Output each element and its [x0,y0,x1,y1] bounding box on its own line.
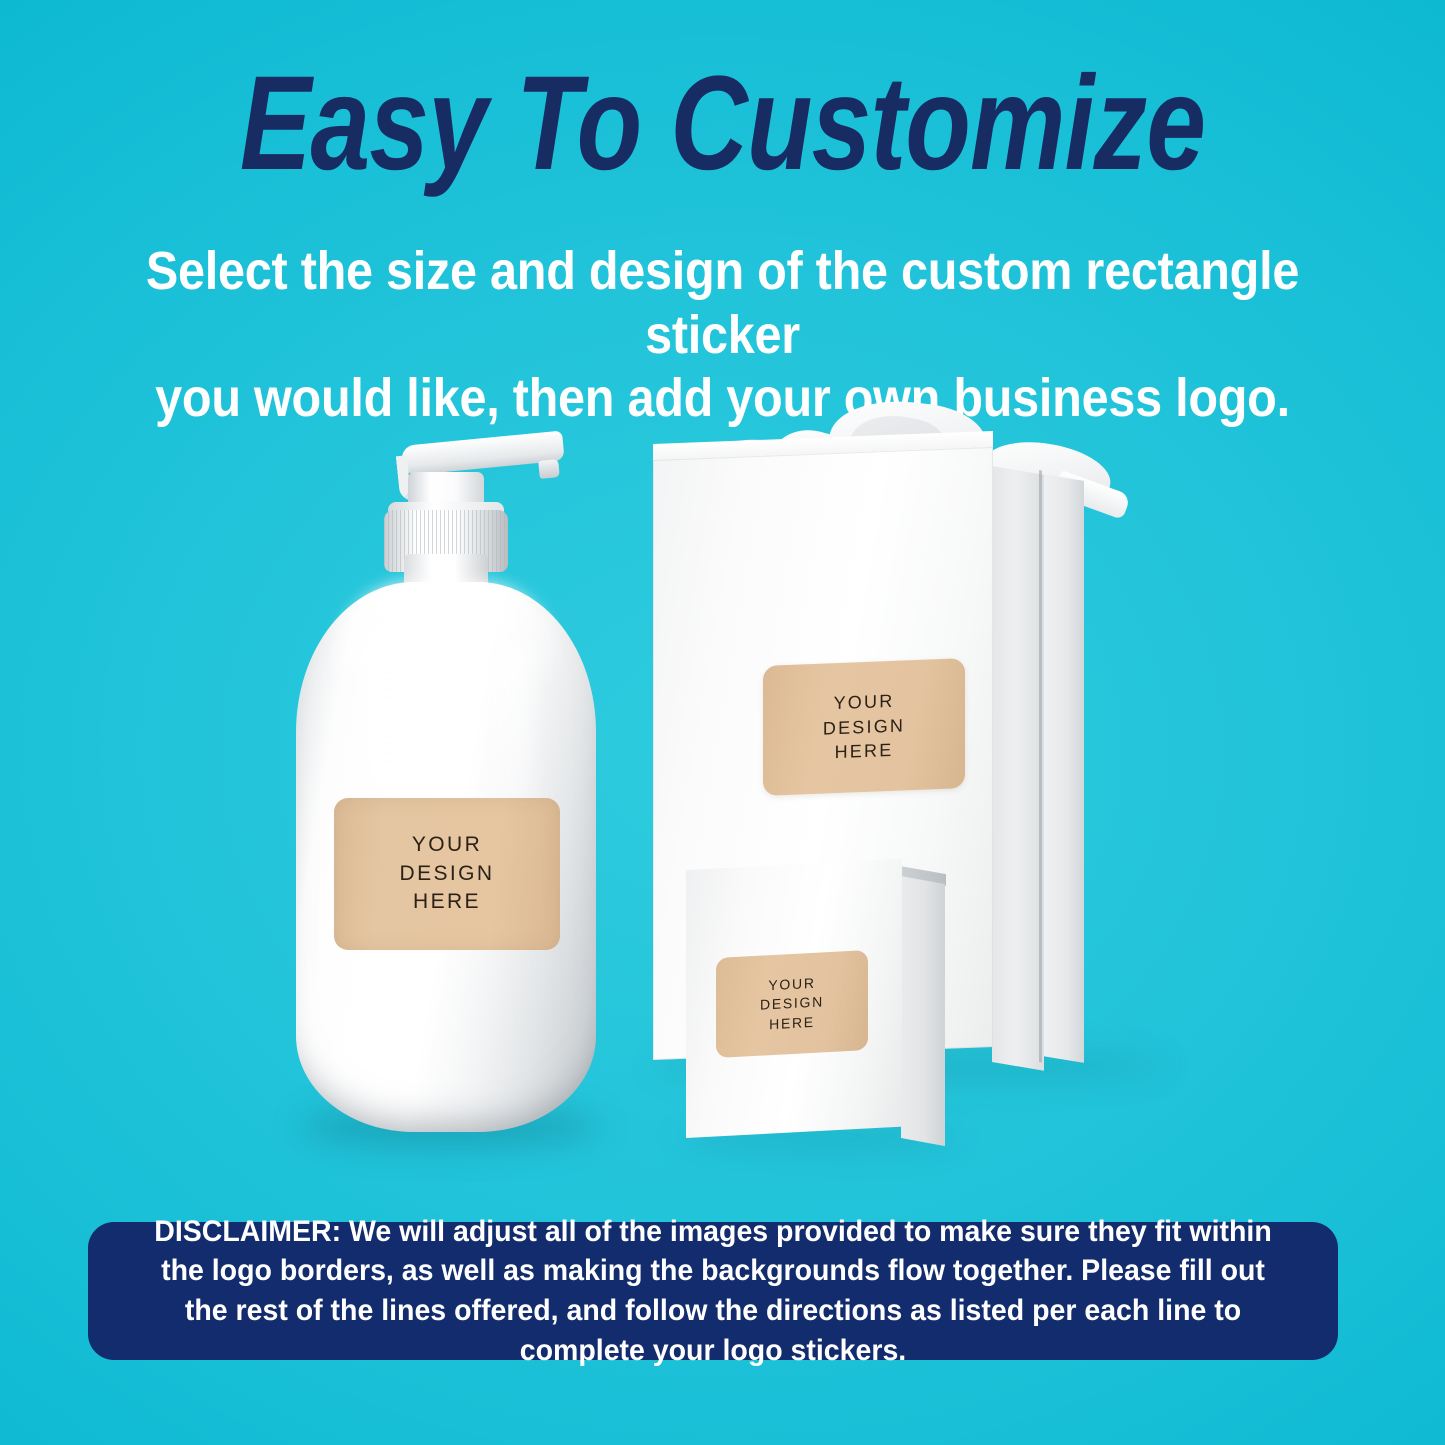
disclaimer-label: DISCLAIMER: [154,1215,341,1248]
pump-bottle: YOUR DESIGN HERE [296,432,596,1132]
sticker-line-3: HERE [413,888,481,917]
sticker-label-smallbox[interactable]: YOUR DESIGN HERE [716,950,868,1058]
giftbox-base-side-panel [1042,474,1084,1063]
sticker-label-bottle[interactable]: YOUR DESIGN HERE [334,798,560,950]
smallbox-side-panel [901,876,945,1146]
giftbox-lid-side-panel [992,466,1044,1071]
subtitle-line-1: Select the size and design of the custom… [137,240,1308,367]
promo-banner: Easy To Customize Select the size and de… [0,0,1445,1445]
sticker-line-3: HERE [835,738,894,765]
sticker-line-1: YOUR [768,974,815,996]
disclaimer-text: DISCLAIMER: We will adjust all of the im… [144,1212,1282,1370]
small-product-box: YOUR DESIGN HERE [686,860,956,1145]
sticker-line-1: YOUR [412,831,482,860]
sticker-line-2: DESIGN [823,713,905,741]
sticker-line-3: HERE [769,1012,815,1034]
sticker-line-1: YOUR [834,689,895,716]
disclaimer-banner: DISCLAIMER: We will adjust all of the im… [88,1222,1338,1360]
page-title: Easy To Customize [145,52,1301,197]
sticker-line-2: DESIGN [400,860,495,889]
pump-nozzle-tip [538,459,560,479]
giftbox-lid-seam [1039,470,1042,1062]
sticker-label-giftbox[interactable]: YOUR DESIGN HERE [763,658,965,796]
